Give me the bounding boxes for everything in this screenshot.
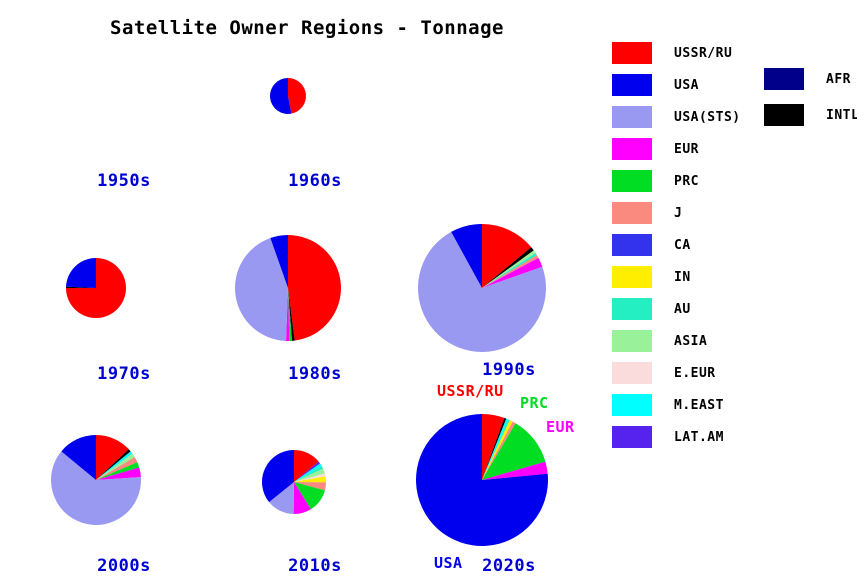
pie-svg-1980s bbox=[233, 233, 343, 343]
legend-swatch-icon-USA bbox=[612, 74, 652, 96]
legend-item-AU[interactable]: AU bbox=[612, 298, 691, 320]
pie-chart-2000s bbox=[49, 433, 143, 527]
pie-chart-2010s bbox=[260, 448, 328, 516]
page-title: Satellite Owner Regions - Tonnage bbox=[110, 17, 504, 39]
legend-label-LAT.AM: LAT.AM bbox=[674, 430, 724, 445]
pie-svg-1960s bbox=[268, 76, 308, 116]
decade-label-1960s: 1960s bbox=[288, 171, 342, 191]
legend-item-J[interactable]: J bbox=[612, 202, 682, 224]
legend-label-E.EUR: E.EUR bbox=[674, 366, 716, 381]
decade-label-2010s: 2010s bbox=[288, 556, 342, 576]
legend-swatch-icon-E.EUR bbox=[612, 362, 652, 384]
legend-label-PRC: PRC bbox=[674, 174, 699, 189]
pie-svg-2000s bbox=[49, 433, 143, 527]
legend-item-USA[interactable]: USA bbox=[612, 74, 699, 96]
legend-label-ASIA: ASIA bbox=[674, 334, 707, 349]
legend-swatch-icon-AFR bbox=[764, 68, 804, 90]
legend-label-IN: IN bbox=[674, 270, 691, 285]
legend-item-E.EUR[interactable]: E.EUR bbox=[612, 362, 716, 384]
legend-item-INTL[interactable]: INTL bbox=[764, 104, 857, 126]
legend-swatch-icon-M.EAST bbox=[612, 394, 652, 416]
legend-label-USSR/RU: USSR/RU bbox=[674, 46, 732, 61]
pie-svg-1990s bbox=[416, 222, 548, 354]
legend-item-IN[interactable]: IN bbox=[612, 266, 691, 288]
legend-item-AFR[interactable]: AFR bbox=[764, 68, 851, 90]
legend-swatch-icon-PRC bbox=[612, 170, 652, 192]
legend-label-USA(STS): USA(STS) bbox=[674, 110, 741, 125]
legend-item-EUR[interactable]: EUR bbox=[612, 138, 699, 160]
legend-swatch-icon-J bbox=[612, 202, 652, 224]
legend-label-AU: AU bbox=[674, 302, 691, 317]
pie-svg-2020s bbox=[414, 412, 550, 548]
decade-label-2020s: 2020s bbox=[482, 556, 536, 576]
annotation-ussrru: USSR/RU bbox=[437, 382, 504, 400]
legend: USSR/RUUSAUSA(STS)EURPRCJCAINAUASIAE.EUR… bbox=[612, 42, 852, 462]
legend-swatch-icon-USSR/RU bbox=[612, 42, 652, 64]
pie-chart-1970s bbox=[64, 256, 128, 320]
annotation-eur: EUR bbox=[546, 418, 575, 436]
pie-chart-2020s bbox=[414, 412, 550, 548]
legend-item-USA(STS)[interactable]: USA(STS) bbox=[612, 106, 741, 128]
legend-swatch-icon-INTL bbox=[764, 104, 804, 126]
pie-svg-1970s bbox=[64, 256, 128, 320]
legend-item-USSR/RU[interactable]: USSR/RU bbox=[612, 42, 732, 64]
legend-item-M.EAST[interactable]: M.EAST bbox=[612, 394, 724, 416]
decade-label-1970s: 1970s bbox=[97, 364, 151, 384]
decade-label-1980s: 1980s bbox=[288, 364, 342, 384]
pie-slice-1980s-USSR/RU bbox=[288, 235, 341, 341]
legend-swatch-icon-IN bbox=[612, 266, 652, 288]
pie-slice-1970s-USA bbox=[66, 258, 96, 288]
legend-swatch-icon-CA bbox=[612, 234, 652, 256]
pie-grid-chart: Satellite Owner Regions - Tonnage 1950s1… bbox=[0, 0, 857, 576]
legend-label-AFR: AFR bbox=[826, 72, 851, 87]
legend-swatch-icon-AU bbox=[612, 298, 652, 320]
legend-label-INTL: INTL bbox=[826, 108, 857, 123]
pie-svg-2010s bbox=[260, 448, 328, 516]
legend-swatch-icon-USA(STS) bbox=[612, 106, 652, 128]
decade-label-1950s: 1950s bbox=[97, 171, 151, 191]
decade-label-2000s: 2000s bbox=[97, 556, 151, 576]
decade-label-1990s: 1990s bbox=[482, 360, 536, 380]
legend-swatch-icon-ASIA bbox=[612, 330, 652, 352]
pie-chart-1980s bbox=[233, 233, 343, 343]
legend-item-PRC[interactable]: PRC bbox=[612, 170, 699, 192]
pie-chart-1990s bbox=[416, 222, 548, 354]
legend-swatch-icon-LAT.AM bbox=[612, 426, 652, 448]
pie-slice-1960s-USSR/RU bbox=[288, 78, 306, 114]
annotation-usa: USA bbox=[434, 554, 463, 572]
legend-item-LAT.AM[interactable]: LAT.AM bbox=[612, 426, 724, 448]
legend-label-USA: USA bbox=[674, 78, 699, 93]
pie-chart-1960s bbox=[268, 76, 308, 116]
annotation-prc: PRC bbox=[520, 394, 549, 412]
legend-swatch-icon-EUR bbox=[612, 138, 652, 160]
legend-label-EUR: EUR bbox=[674, 142, 699, 157]
legend-label-J: J bbox=[674, 206, 682, 221]
legend-label-CA: CA bbox=[674, 238, 691, 253]
legend-label-M.EAST: M.EAST bbox=[674, 398, 724, 413]
legend-item-ASIA[interactable]: ASIA bbox=[612, 330, 707, 352]
legend-item-CA[interactable]: CA bbox=[612, 234, 691, 256]
